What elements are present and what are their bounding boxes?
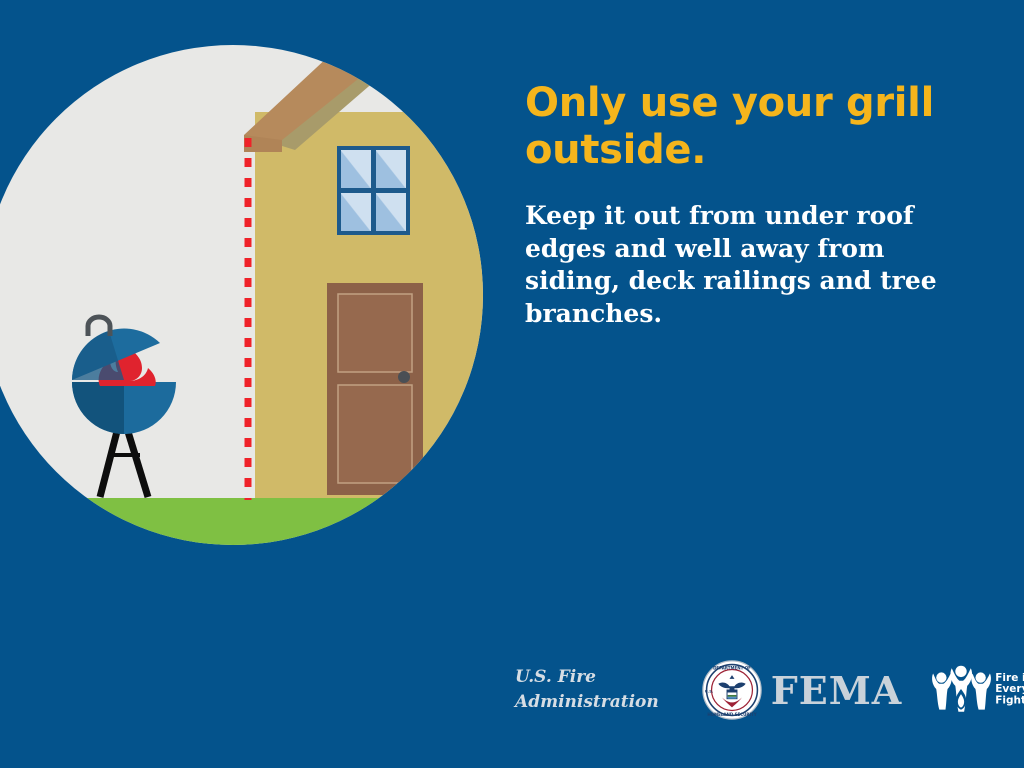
fema-wordmark: FEMA	[771, 668, 903, 713]
dhs-seal-text-top: DEPARTMENT OF	[713, 666, 751, 671]
feef-line2: Everyone's	[995, 683, 1024, 695]
feef-line3: Fight	[995, 695, 1024, 707]
body-text: Keep it out from under roof edges and we…	[525, 200, 980, 330]
page-title: Only use your grill outside.	[525, 80, 945, 174]
dhs-seal-text-bottom: HOMELAND SECURITY	[707, 712, 756, 717]
house-door	[327, 283, 423, 495]
doorknob	[398, 371, 410, 383]
fire-is-everyones-fight-logo: Fire isEveryone'sFight™	[930, 664, 1024, 716]
grill-safety-illustration	[0, 0, 520, 570]
feef-tagline: Fire isEveryone'sFight™	[995, 673, 1024, 707]
copy-block: Only use your grill outside. Keep it out…	[525, 80, 985, 330]
dhs-seal-text-left: U.S.	[705, 689, 714, 693]
footer-logo-bar: U.S. Fire Administration DEPARTMENT OF H…	[515, 650, 1015, 730]
grass-strip	[0, 498, 520, 570]
usfa-wordmark: U.S. Fire Administration	[515, 665, 681, 714]
feef-line1: Fire is	[995, 672, 1024, 684]
house-window	[337, 146, 410, 235]
feef-people-flame-icon	[930, 664, 992, 716]
dhs-seal-icon: DEPARTMENT OF HOMELAND SECURITY U.S.	[701, 659, 763, 721]
poster-canvas: Only use your grill outside. Keep it out…	[0, 0, 1024, 768]
